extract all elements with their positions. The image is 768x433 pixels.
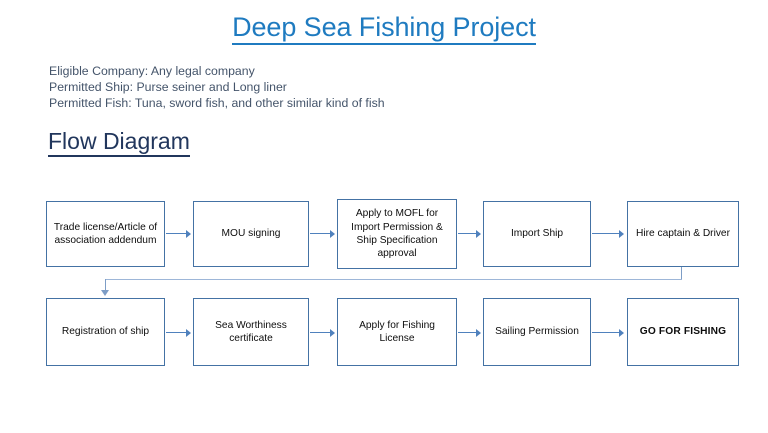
flow-node-label: Import Ship xyxy=(511,227,563,240)
arrow-head xyxy=(476,329,481,337)
arrow-shaft xyxy=(310,332,331,333)
flow-node-label: Hire captain & Driver xyxy=(636,227,730,240)
flow-node-go-for-fishing[interactable]: GO FOR FISHING xyxy=(627,298,739,366)
arrow-head xyxy=(186,329,191,337)
flow-node-mou-signing[interactable]: MOU signing xyxy=(193,201,309,267)
arrow-sailing-permission-to-go-for-fishing xyxy=(592,328,626,337)
flow-node-apply-mofl[interactable]: Apply to MOFL for Import Permission & Sh… xyxy=(337,199,457,269)
flow-node-label: Trade license/Article of association add… xyxy=(51,221,160,248)
connector-arrow-head-registration xyxy=(101,290,109,296)
flow-node-apply-fishing-license[interactable]: Apply for Fishing License xyxy=(337,298,457,366)
flow-node-label: Sea Worthiness certificate xyxy=(198,319,304,346)
arrow-head xyxy=(330,230,335,238)
arrow-registration-to-sea-worthiness xyxy=(166,328,192,337)
arrow-shaft xyxy=(592,233,620,234)
arrow-head xyxy=(186,230,191,238)
arrow-mofl-to-import-ship xyxy=(458,229,482,238)
connector-horizontal-row1-to-row2 xyxy=(105,279,682,280)
flow-node-trade-license[interactable]: Trade license/Article of association add… xyxy=(46,201,165,267)
arrow-shaft xyxy=(458,332,477,333)
flow-node-sailing-permission[interactable]: Sailing Permission xyxy=(483,298,591,366)
arrow-shaft xyxy=(310,233,331,234)
flow-node-import-ship[interactable]: Import Ship xyxy=(483,201,591,267)
arrow-shaft xyxy=(458,233,477,234)
slide-canvas: Deep Sea Fishing Project Eligible Compan… xyxy=(0,0,768,433)
flow-node-label: GO FOR FISHING xyxy=(640,325,726,338)
arrow-shaft xyxy=(166,332,187,333)
flow-node-label: MOU signing xyxy=(222,227,281,240)
arrow-shaft xyxy=(592,332,620,333)
arrow-fishing-license-to-sailing-permission xyxy=(458,328,482,337)
arrow-trade-license-to-mou xyxy=(166,229,192,238)
flow-node-sea-worthiness[interactable]: Sea Worthiness certificate xyxy=(193,298,309,366)
flow-node-label: Registration of ship xyxy=(62,325,149,338)
flow-node-label: Sailing Permission xyxy=(495,325,579,338)
flow-node-hire-captain[interactable]: Hire captain & Driver xyxy=(627,201,739,267)
arrow-import-ship-to-hire-captain xyxy=(592,229,626,238)
arrow-head xyxy=(619,230,624,238)
arrow-head xyxy=(619,329,624,337)
flow-node-label: Apply to MOFL for Import Permission & Sh… xyxy=(342,207,452,261)
arrow-head xyxy=(476,230,481,238)
arrow-head xyxy=(330,329,335,337)
flow-node-registration-of-ship[interactable]: Registration of ship xyxy=(46,298,165,366)
flow-diagram: Trade license/Article of association add… xyxy=(0,0,768,433)
arrow-sea-worthiness-to-fishing-license xyxy=(310,328,336,337)
flow-node-label: Apply for Fishing License xyxy=(342,319,452,346)
arrow-shaft xyxy=(166,233,187,234)
arrow-mou-to-mofl xyxy=(310,229,336,238)
